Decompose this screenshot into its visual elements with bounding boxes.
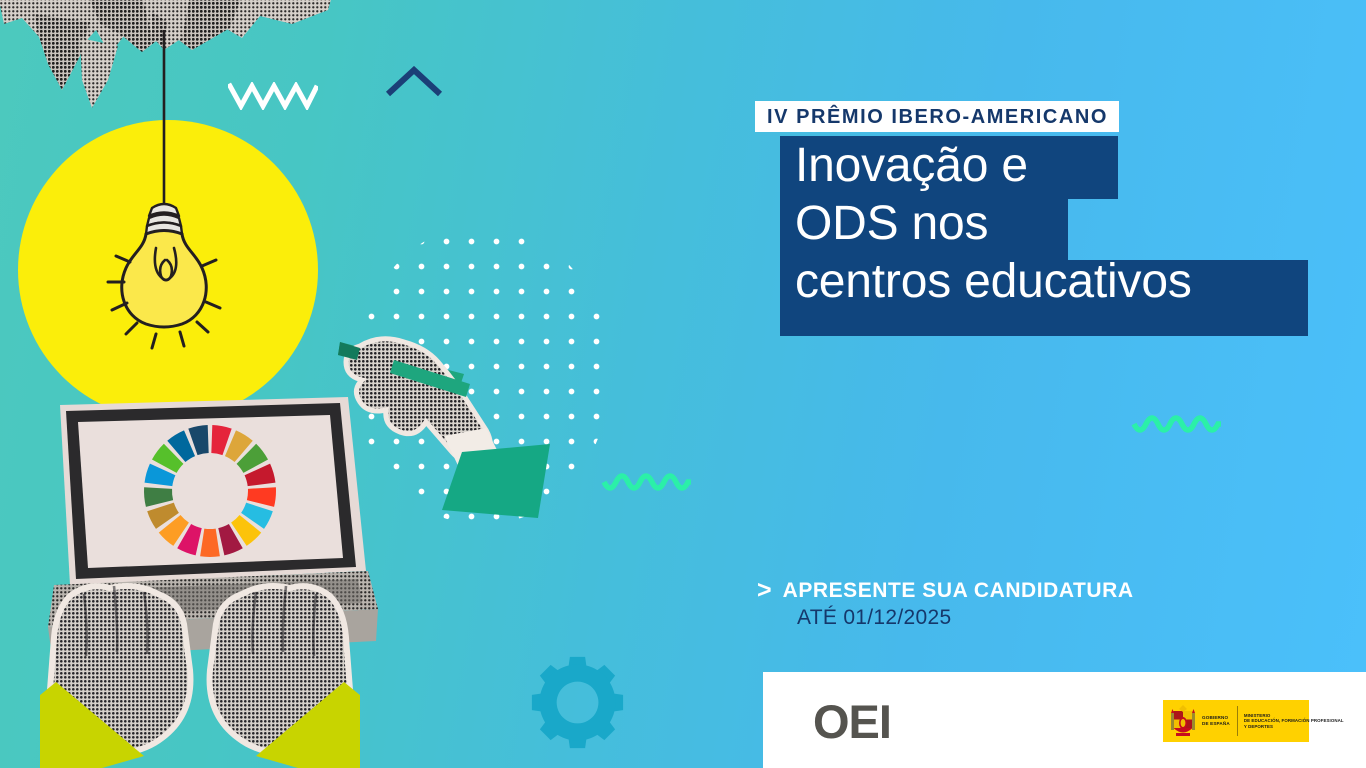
cta-label: APRESENTE SUA CANDIDATURA: [783, 579, 1134, 603]
chevron-right-icon: >: [757, 579, 772, 601]
eyebrow-text: IV PRÊMIO IBERO-AMERICANO: [767, 107, 1108, 127]
gov-logo-divider: [1237, 706, 1238, 736]
cta-deadline: ATÉ 01/12/2025: [797, 606, 1227, 630]
page-title: Inovação e ODS nos centros educativos: [795, 137, 1315, 339]
call-to-action: > APRESENTE SUA CANDIDATURA ATÉ 01/12/20…: [757, 579, 1227, 630]
green-squiggle-icon-2: [601, 473, 693, 497]
hanging-lightbulb-icon: [96, 26, 296, 356]
gear-icon: [530, 655, 625, 750]
navy-chevron-icon: [385, 66, 443, 98]
halftone-hand-holding-pencil: [338, 332, 563, 522]
spanish-government-ministry-logo: GOBIERNO DE ESPAÑA MINISTERIO DE EDUCACI…: [1163, 700, 1309, 742]
gov-logo-text-gobierno: GOBIERNO DE ESPAÑA: [1202, 715, 1230, 726]
gov-logo-text-ministerio: MINISTERIO DE EDUCACIÓN, FORMACIÓN PROFE…: [1244, 713, 1344, 729]
oei-logo: OEI: [813, 698, 891, 745]
eyebrow-label: IV PRÊMIO IBERO-AMERICANO: [755, 101, 1119, 132]
footer-panel: OEI: [763, 672, 1366, 768]
green-squiggle-icon-1: [1131, 415, 1223, 439]
halftone-hands-typing: [40, 560, 360, 768]
spain-coat-of-arms-icon: [1170, 704, 1196, 738]
promo-banner: IV PRÊMIO IBERO-AMERICANO Inovação e ODS…: [0, 0, 1366, 768]
